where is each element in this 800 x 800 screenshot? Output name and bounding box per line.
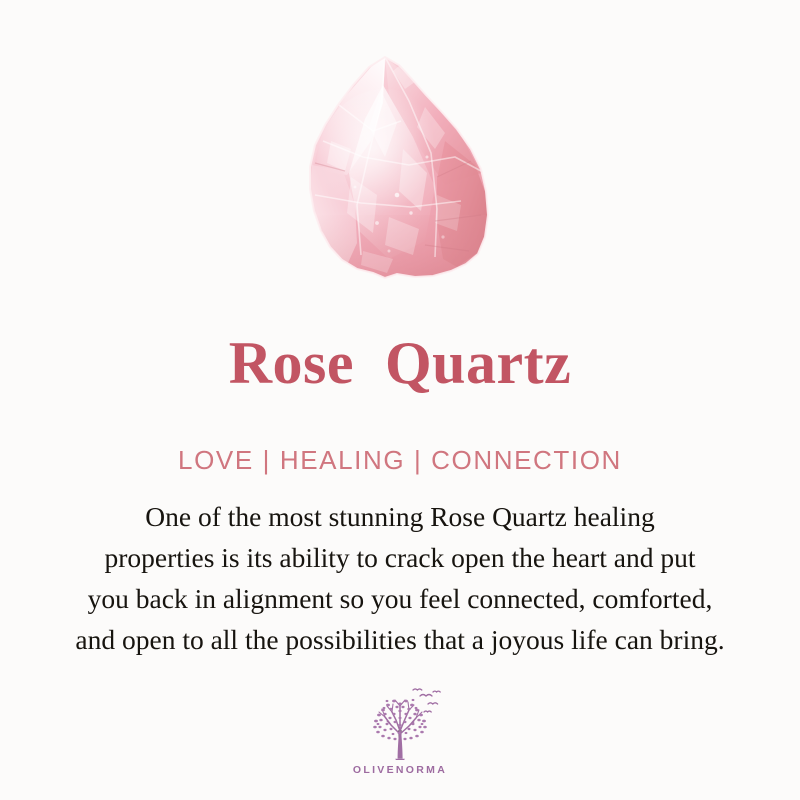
tagline: LOVE | HEALING | CONNECTION bbox=[0, 445, 800, 476]
brand-logo: OLIVENORMA bbox=[0, 684, 800, 776]
description-line: you back in alignment so you feel connec… bbox=[28, 578, 772, 619]
logo-tree bbox=[373, 689, 440, 760]
page-title: Rose Quartz bbox=[0, 332, 800, 395]
description-line: properties is its ability to crack open … bbox=[28, 537, 772, 578]
description-text: One of the most stunning Rose Quartz hea… bbox=[28, 496, 772, 660]
description-line: One of the most stunning Rose Quartz hea… bbox=[28, 496, 772, 537]
description-line: and open to all the possibilities that a… bbox=[28, 619, 772, 660]
rose-quartz-crystal-image bbox=[285, 45, 515, 290]
tree-with-birds-logo-icon bbox=[354, 684, 446, 762]
logo-wordmark: OLIVENORMA bbox=[0, 764, 800, 776]
hero-image-area bbox=[0, 0, 800, 310]
product-info-card: Rose Quartz LOVE | HEALING | CONNECTION … bbox=[0, 0, 800, 800]
